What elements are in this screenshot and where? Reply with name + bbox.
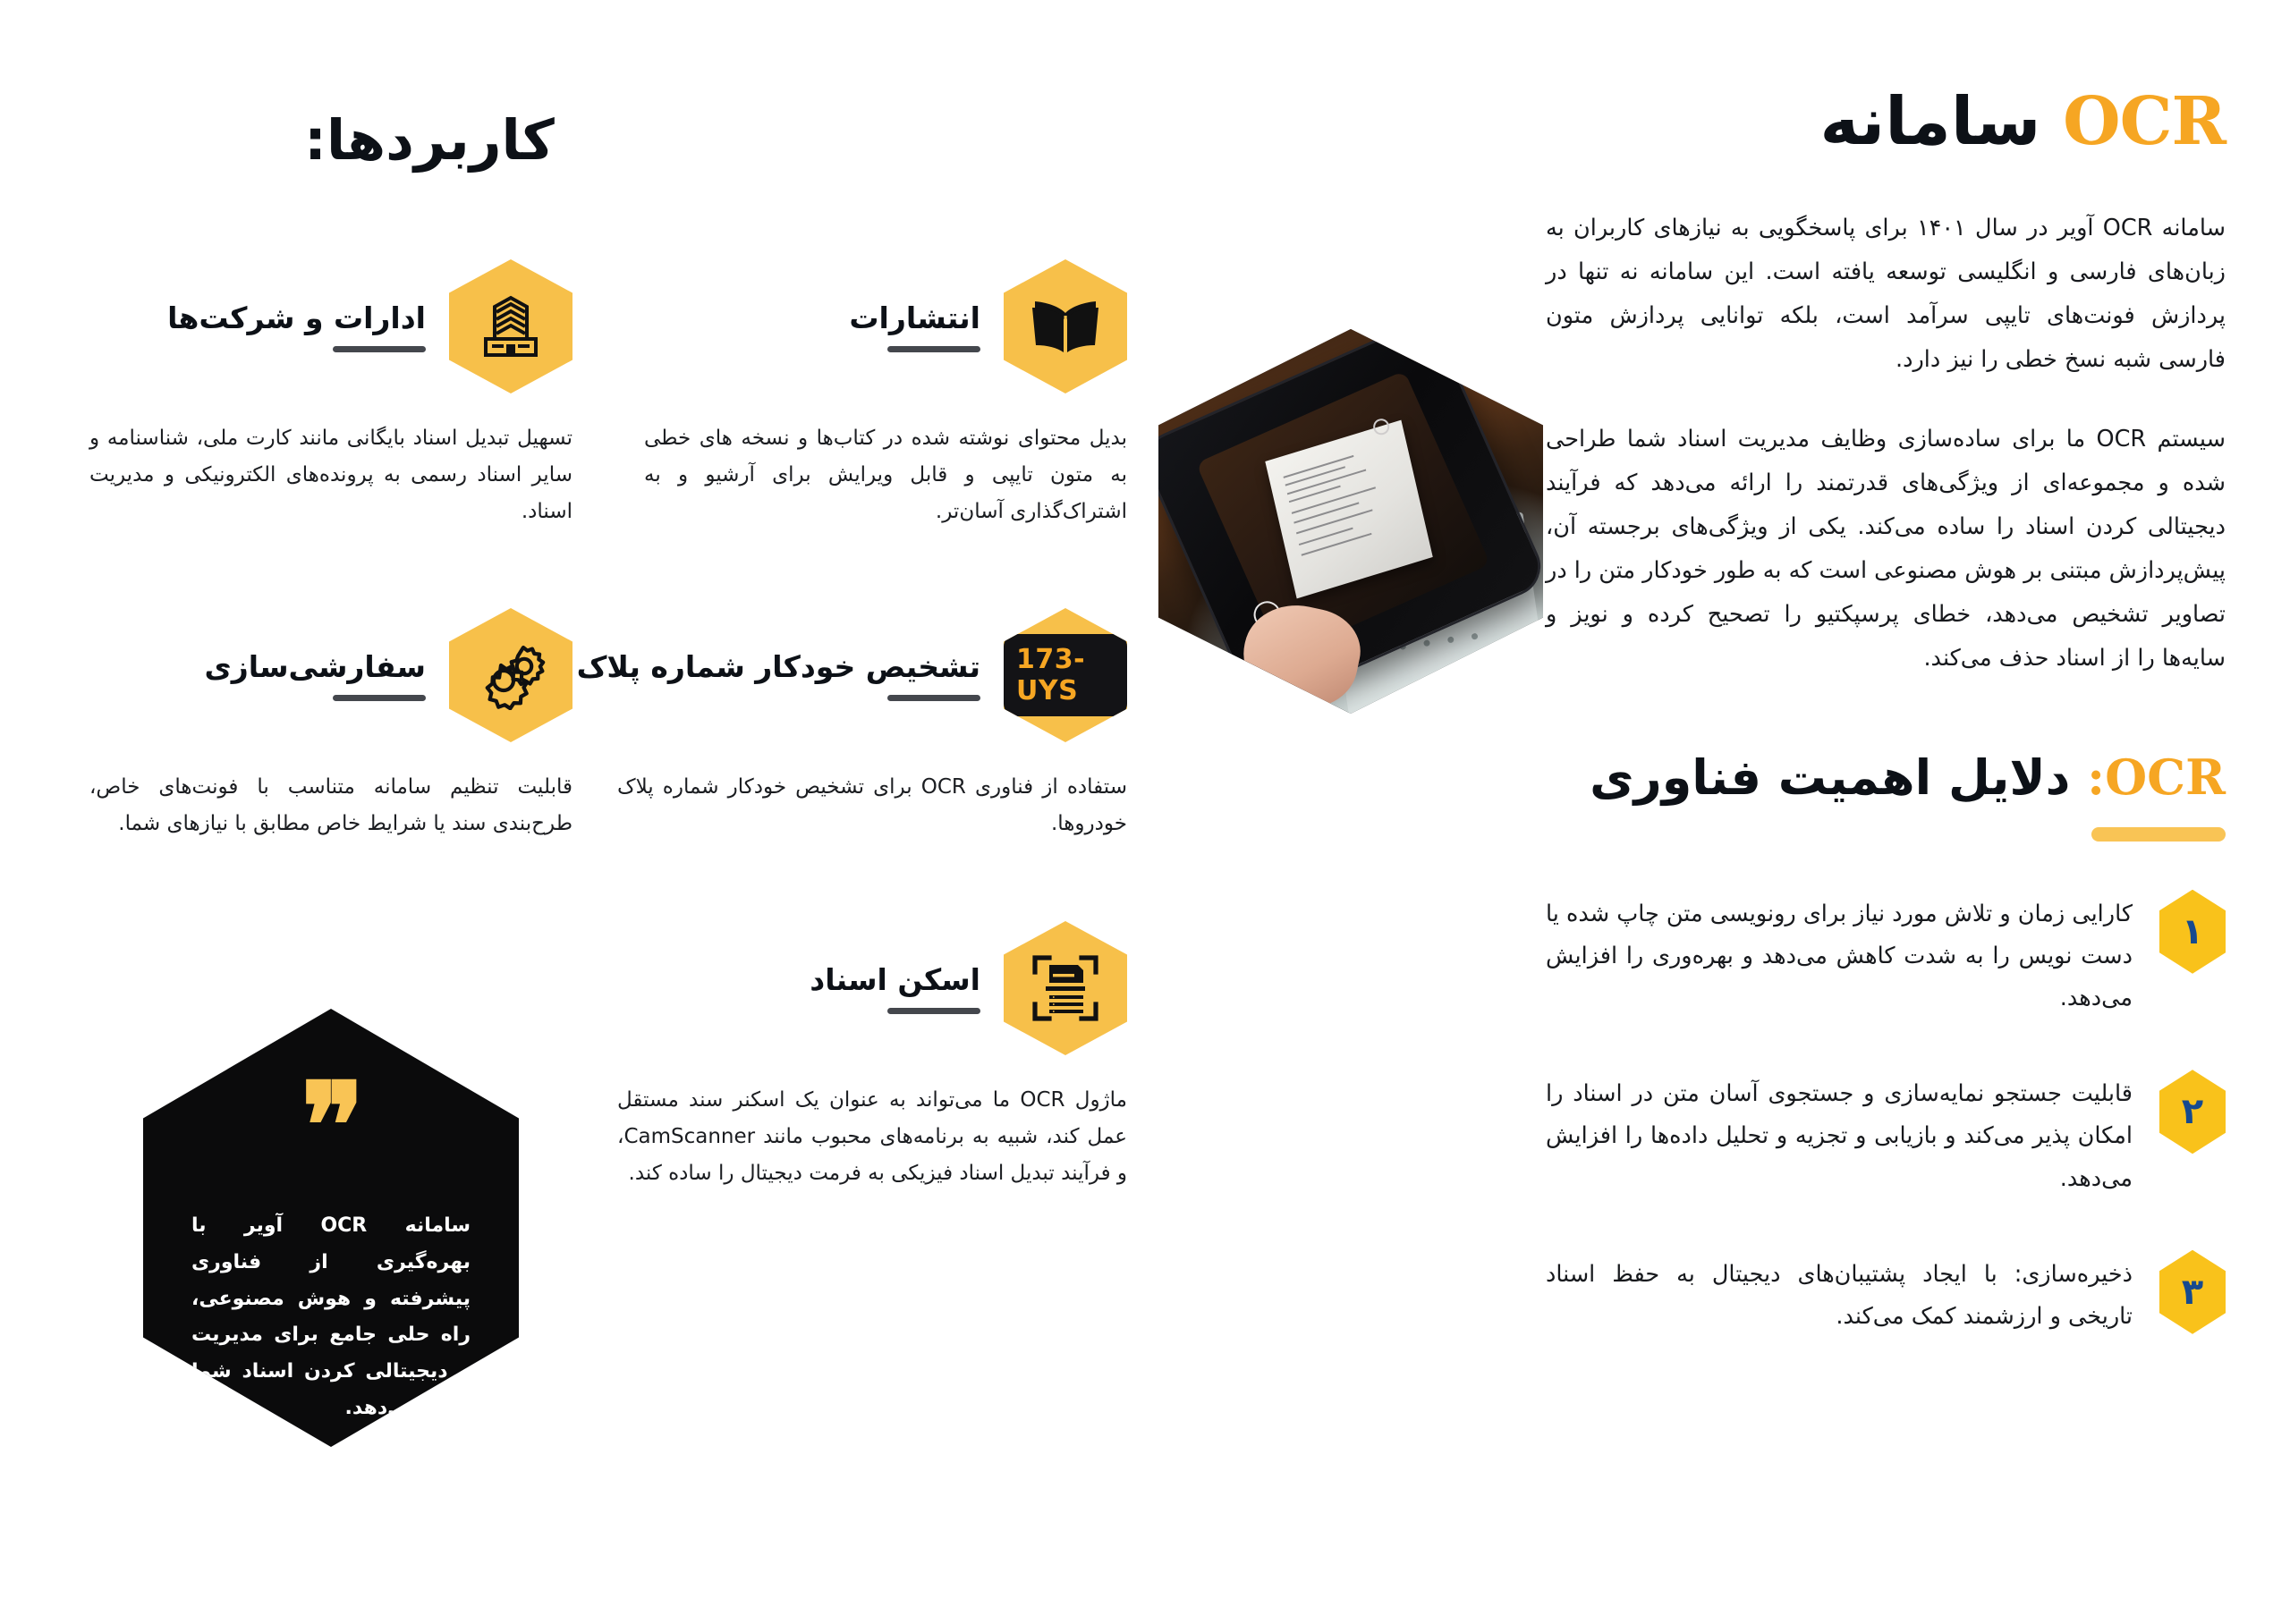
- card-customization: سفارشی‌سازی قابلیت تنظیم سامانه متناسب ب…: [89, 608, 572, 842]
- right-column: OCR سامانه سامانه OCR آویر در سال ۱۴۰۱ ب…: [1546, 86, 2226, 1388]
- card-title-underline: [887, 695, 980, 701]
- license-plate-text: 173-UYS: [1004, 634, 1127, 716]
- card-body: ماژول OCR ما می‌تواند به عنوان یک اسکنر …: [617, 1082, 1127, 1192]
- gears-glyph: [473, 640, 548, 710]
- card-header: 173-UYS تشخیص خودکار شماره پلاک: [617, 608, 1127, 742]
- list-item: ۳ ذخیره‌سازی: با ایجاد پشتیبان‌های دیجیت…: [1546, 1250, 2226, 1338]
- gears-icon: [449, 608, 572, 742]
- card-title-wrap: سفارشی‌سازی: [204, 649, 426, 701]
- photo-background: [1158, 329, 1543, 714]
- phone-camera-viewfinder: [1195, 370, 1490, 657]
- quote-callout: ❞ سامانه OCR آویر با بهره‌گیری از فناوری…: [143, 1009, 519, 1447]
- list-item: ۱ کارایی زمان و تلاش مورد نیاز برای رونو…: [1546, 890, 2226, 1020]
- quote-text: سامانه OCR آویر با بهره‌گیری از فناوری پ…: [191, 1208, 471, 1426]
- card-header: اسکن اسناد: [617, 921, 1127, 1055]
- section-heading-importance: OCR: دلایل اهمیت فناوری: [1546, 749, 2226, 808]
- reason-badge-3: ۳: [2159, 1250, 2226, 1334]
- card-title-underline: [887, 1008, 980, 1014]
- office-building-icon: [449, 259, 572, 393]
- reason-text-2: قابلیت جستجو نمایه‌سازی و جستجوی آسان مت…: [1546, 1070, 2133, 1200]
- card-publications: انتشارات بدیل محتوای نوشته شده در کتاب‌ه…: [644, 259, 1127, 530]
- card-offices-companies: ادارات و شرکت‌ها تسهیل تبدیل اسناد بایگا…: [89, 259, 572, 530]
- card-title: انتشارات: [849, 300, 980, 335]
- hand-holding-phone-scanning-document-photo: [1158, 329, 1543, 714]
- card-title: تشخیص خودکار شماره پلاک: [577, 649, 980, 684]
- card-title: ادارات و شرکت‌ها: [167, 300, 426, 335]
- list-item: ۲ قابلیت جستجو نمایه‌سازی و جستجوی آسان …: [1546, 1070, 2226, 1200]
- card-body: ستفاده از فناوری OCR برای تشخیص خودکار ش…: [617, 769, 1127, 842]
- reason-badge-2: ۲: [2159, 1070, 2226, 1154]
- reason-badge-1: ۱: [2159, 890, 2226, 974]
- document-scan-icon: [1004, 921, 1127, 1055]
- section-heading-underline: [2091, 827, 2226, 842]
- card-title-wrap: انتشارات: [849, 300, 980, 352]
- intro-paragraph-1: سامانه OCR آویر در سال ۱۴۰۱ برای پاسخگوی…: [1546, 207, 2226, 382]
- intro-paragraph-2: سیستم OCR ما برای ساده‌سازی وظایف مدیریت…: [1546, 418, 2226, 681]
- license-plate-icon: 173-UYS: [1004, 608, 1127, 742]
- page-title-fa: سامانه: [1820, 83, 2041, 160]
- document-in-viewfinder: [1265, 419, 1432, 597]
- card-header: انتشارات: [644, 259, 1127, 393]
- card-title-underline: [333, 695, 426, 701]
- card-title: اسکن اسناد: [810, 962, 980, 997]
- reason-text-3: ذخیره‌سازی: با ایجاد پشتیبان‌های دیجیتال…: [1546, 1250, 2133, 1338]
- document-scan-glyph: [1030, 952, 1101, 1024]
- card-title: سفارشی‌سازی: [204, 649, 426, 684]
- section-heading-fa: دلایل اهمیت فناوری: [1590, 749, 2070, 806]
- card-body: قابلیت تنظیم سامانه متناسب با فونت‌های خ…: [89, 769, 572, 842]
- page-title-accent: OCR: [2063, 83, 2226, 160]
- card-title-wrap: اسکن اسناد: [810, 962, 980, 1014]
- open-book-glyph: [1028, 297, 1103, 356]
- card-header: ادارات و شرکت‌ها: [89, 259, 572, 393]
- open-book-icon: [1004, 259, 1127, 393]
- card-body: بدیل محتوای نوشته شده در کتاب‌ها و نسخه …: [644, 420, 1127, 530]
- applications-heading: کاربردها:: [0, 107, 859, 173]
- page-title: OCR سامانه: [1546, 86, 2226, 158]
- brochure-page: OCR سامانه سامانه OCR آویر در سال ۱۴۰۱ ب…: [0, 0, 2290, 1624]
- card-body: تسهیل تبدیل اسناد بایگانی مانند کارت ملی…: [89, 420, 572, 530]
- card-header: سفارشی‌سازی: [89, 608, 572, 742]
- card-title-underline: [887, 346, 980, 352]
- office-building-glyph: [477, 292, 545, 360]
- card-title-wrap: ادارات و شرکت‌ها: [167, 300, 426, 352]
- card-title-wrap: تشخیص خودکار شماره پلاک: [577, 649, 980, 701]
- card-document-scan: اسکن اسناد ماژول OCR ما می‌تواند به عنوا…: [617, 921, 1127, 1192]
- reason-text-1: کارایی زمان و تلاش مورد نیاز برای رونویس…: [1546, 890, 2133, 1020]
- section-heading-accent: OCR:: [2087, 749, 2226, 806]
- card-title-underline: [333, 346, 426, 352]
- quote-mark-icon: ❞: [301, 1091, 360, 1162]
- card-license-plate: 173-UYS تشخیص خودکار شماره پلاک ستفاده ا…: [617, 608, 1127, 842]
- reasons-list: ۱ کارایی زمان و تلاش مورد نیاز برای رونو…: [1546, 890, 2226, 1338]
